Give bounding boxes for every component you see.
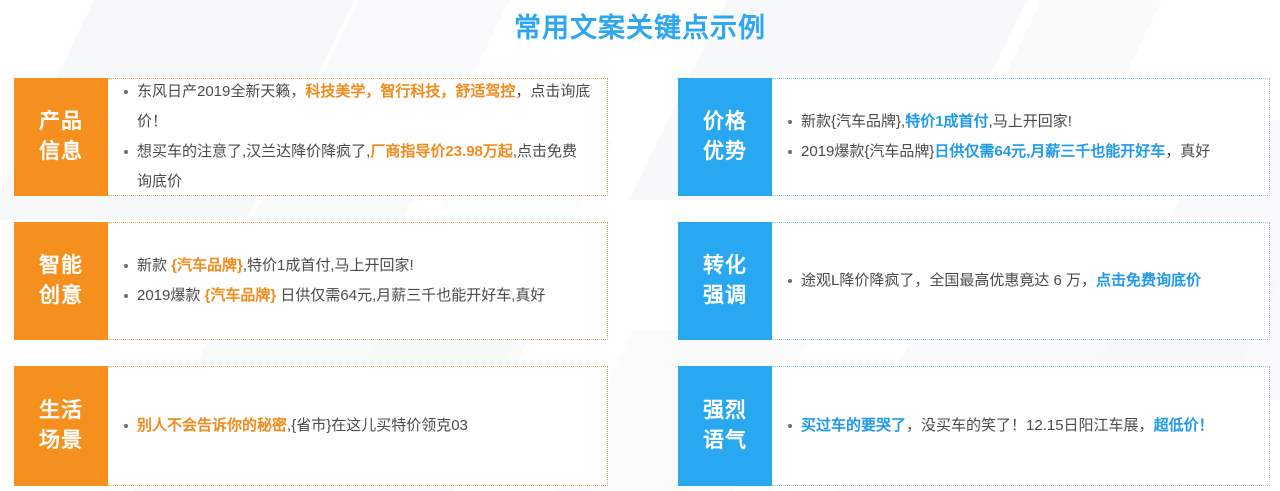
right-column: 价格优势新款{汽车品牌},特价1成首付,马上开回家!2019爆款{汽车品牌}日供… [678,78,1270,486]
highlight-text: 厂商指导价23.98万起 [370,143,513,160]
list-item: 别人不会告诉你的秘密,{省市}在这儿买特价领克03 [122,411,591,441]
bullet-list: 新款{汽车品牌},特价1成首付,马上开回家!2019爆款{汽车品牌}日供仅需64… [786,107,1253,167]
card-label-line1: 生活 [39,396,83,426]
plain-text: 日供仅需64元,月薪三千也能开好车,真好 [276,287,545,304]
card-label-line2: 创意 [39,281,83,311]
plain-text: 新款 [137,257,171,274]
left-column: 产品信息东风日产2019全新天籁，科技美学，智行科技，舒适驾控，点击询底价！想买… [14,78,608,486]
card-label-line2: 语气 [703,426,747,456]
card-label-line1: 智能 [39,251,83,281]
card-right-2: 转化强调途观L降价降疯了，全国最高优惠竟达 6 万，点击免费询底价 [678,222,1270,340]
card-label: 转化强调 [678,222,772,340]
highlight-text: 日供仅需64元,月薪三千也能开好车 [934,143,1165,160]
card-label-line2: 场景 [39,426,83,456]
plain-text: 途观L降价降疯了，全国最高优惠竟达 6 万， [801,272,1096,289]
card-left-1: 产品信息东风日产2019全新天籁，科技美学，智行科技，舒适驾控，点击询底价！想买… [14,78,608,196]
bullet-list: 新款 {汽车品牌},特价1成首付,马上开回家!2019爆款 {汽车品牌} 日供仅… [122,251,591,311]
plain-text: 2019爆款{汽车品牌} [801,143,934,160]
highlight-text: {汽车品牌} [171,257,243,274]
list-item: 途观L降价降疯了，全国最高优惠竟达 6 万，点击免费询底价 [786,266,1253,296]
card-right-1: 价格优势新款{汽车品牌},特价1成首付,马上开回家!2019爆款{汽车品牌}日供… [678,78,1270,196]
highlight-text: 点击免费询底价 [1096,272,1201,289]
card-label: 强烈语气 [678,366,772,486]
highlight-text: 买过车的要哭了 [801,417,906,434]
list-item: 新款 {汽车品牌},特价1成首付,马上开回家! [122,251,591,281]
card-body: 买过车的要哭了，没买车的笑了！12.15日阳江车展，超低价！ [772,366,1270,486]
card-body: 新款{汽车品牌},特价1成首付,马上开回家!2019爆款{汽车品牌}日供仅需64… [772,78,1270,196]
plain-text: ,马上开回家! [989,113,1072,130]
plain-text: 新款{汽车品牌}, [801,113,905,130]
card-left-2: 智能创意新款 {汽车品牌},特价1成首付,马上开回家!2019爆款 {汽车品牌}… [14,222,608,340]
card-label-line1: 转化 [703,251,747,281]
bullet-list: 途观L降价降疯了，全国最高优惠竟达 6 万，点击免费询底价 [786,266,1253,296]
card-body: 别人不会告诉你的秘密,{省市}在这儿买特价领克03 [108,366,608,486]
card-body: 东风日产2019全新天籁，科技美学，智行科技，舒适驾控，点击询底价！想买车的注意… [108,78,608,196]
card-label: 产品信息 [14,78,108,196]
plain-text: 东风日产2019全新天籁， [137,83,305,100]
list-item: 2019爆款{汽车品牌}日供仅需64元,月薪三千也能开好车，真好 [786,137,1253,167]
list-item: 新款{汽车品牌},特价1成首付,马上开回家! [786,107,1253,137]
list-item: 想买车的注意了,汉兰达降价降疯了,厂商指导价23.98万起,点击免费询底价 [122,137,591,197]
card-label-line2: 强调 [703,281,747,311]
plain-text: ,特价1成首付,马上开回家! [243,257,414,274]
card-label-line1: 产品 [39,107,83,137]
card-body: 新款 {汽车品牌},特价1成首付,马上开回家!2019爆款 {汽车品牌} 日供仅… [108,222,608,340]
card-label-line2: 信息 [39,137,83,167]
card-label: 价格优势 [678,78,772,196]
card-label: 生活场景 [14,366,108,486]
highlight-text: 科技美学，智行科技，舒适驾控 [305,83,515,100]
highlight-text: {汽车品牌} [205,287,277,304]
list-item: 东风日产2019全新天籁，科技美学，智行科技，舒适驾控，点击询底价！ [122,77,591,137]
highlight-text: 特价1成首付 [905,113,988,130]
plain-text: 2019爆款 [137,287,205,304]
plain-text: ，真好 [1165,143,1210,160]
bullet-list: 别人不会告诉你的秘密,{省市}在这儿买特价领克03 [122,411,591,441]
list-item: 买过车的要哭了，没买车的笑了！12.15日阳江车展，超低价！ [786,411,1253,441]
highlight-text: 别人不会告诉你的秘密 [137,417,287,434]
highlight-text: 超低价！ [1154,417,1214,434]
card-right-3: 强烈语气买过车的要哭了，没买车的笑了！12.15日阳江车展，超低价！ [678,366,1270,486]
card-label-line1: 价格 [703,107,747,137]
bullet-list: 买过车的要哭了，没买车的笑了！12.15日阳江车展，超低价！ [786,411,1253,441]
plain-text: ，没买车的笑了！12.15日阳江车展， [906,417,1154,434]
page-title: 常用文案关键点示例 [0,8,1280,48]
card-left-3: 生活场景别人不会告诉你的秘密,{省市}在这儿买特价领克03 [14,366,608,486]
plain-text: 想买车的注意了,汉兰达降价降疯了, [137,143,370,160]
plain-text: ,{省市}在这儿买特价领克03 [287,417,468,434]
card-label: 智能创意 [14,222,108,340]
card-label-line2: 优势 [703,137,747,167]
bullet-list: 东风日产2019全新天籁，科技美学，智行科技，舒适驾控，点击询底价！想买车的注意… [122,77,591,197]
card-label-line1: 强烈 [703,396,747,426]
card-body: 途观L降价降疯了，全国最高优惠竟达 6 万，点击免费询底价 [772,222,1270,340]
slide-root: 常用文案关键点示例 产品信息东风日产2019全新天籁，科技美学，智行科技，舒适驾… [0,0,1280,491]
list-item: 2019爆款 {汽车品牌} 日供仅需64元,月薪三千也能开好车,真好 [122,281,591,311]
